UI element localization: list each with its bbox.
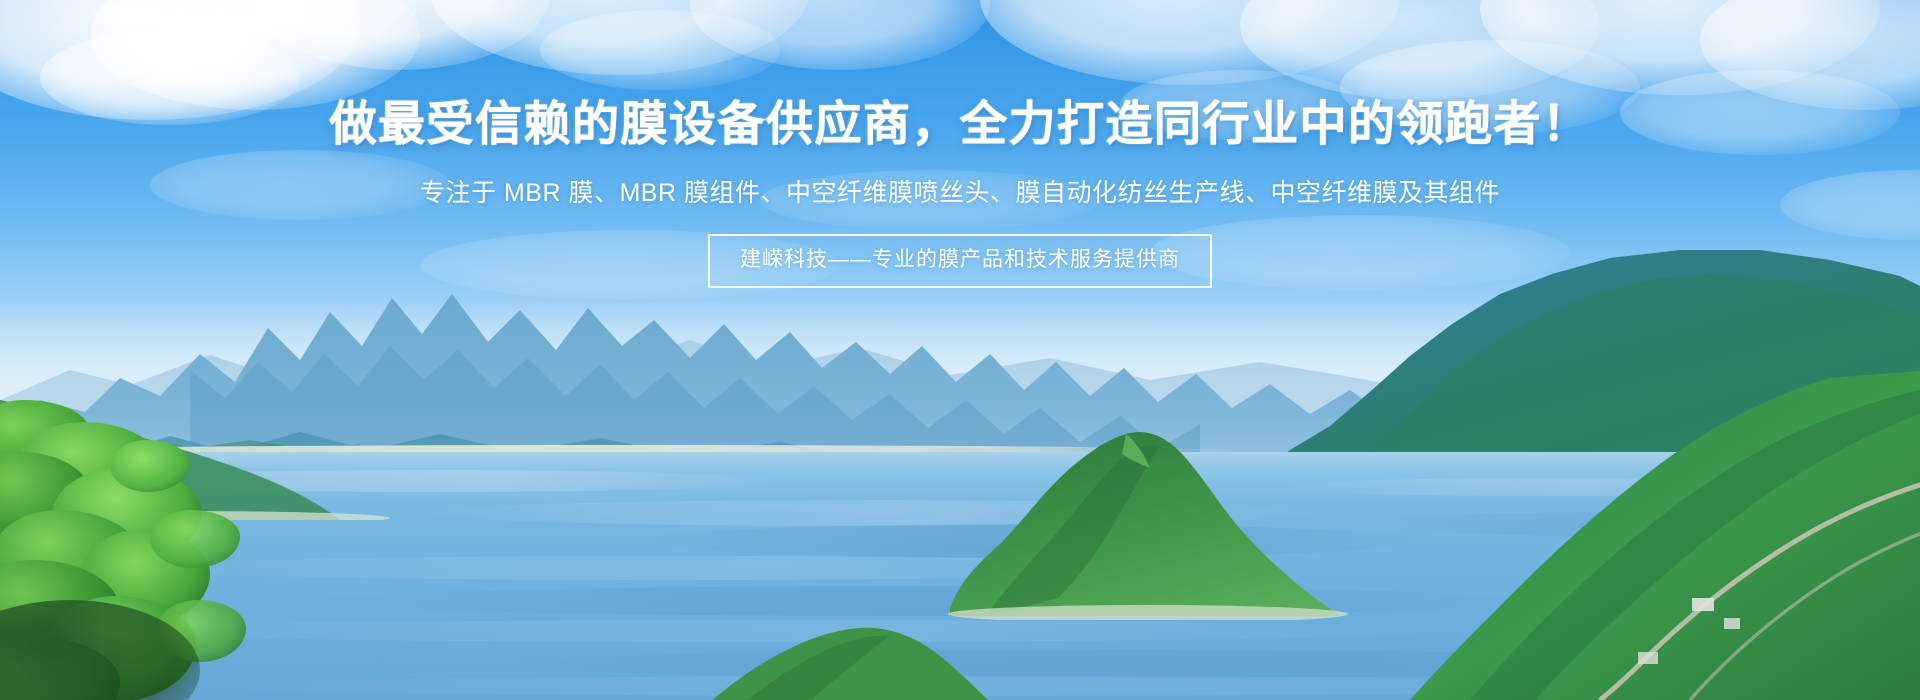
island-small <box>690 600 1010 700</box>
right-bank <box>1290 370 1920 700</box>
hero-banner: 做最受信赖的膜设备供应商，全力打造同行业中的领跑者！ 专注于 MBR 膜、MBR… <box>0 0 1920 700</box>
left-bank <box>0 400 420 520</box>
